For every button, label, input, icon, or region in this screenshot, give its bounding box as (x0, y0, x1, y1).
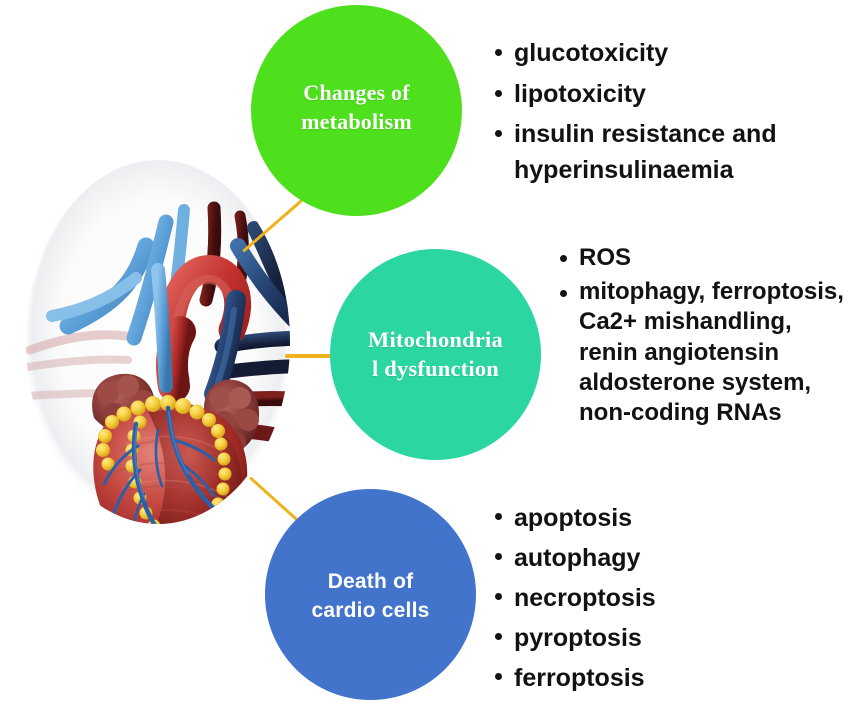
node-death-of-cardio-cells[interactable]: Death of cardio cells (265, 489, 476, 700)
list-item: lipotoxicity (487, 77, 847, 113)
node-label-death: Death of cardio cells (312, 568, 430, 626)
list-item: apoptosis (487, 500, 817, 536)
node-changes-of-metabolism[interactable]: Changes of metabolism (251, 5, 462, 216)
list-item: ROS (552, 243, 852, 273)
list-item: autophagy (487, 540, 817, 576)
bullet-list-mitochondrial: ROS mitophagy, ferroptosis, Ca2+ mishand… (552, 243, 852, 432)
list-item: necroptosis (487, 580, 817, 616)
list-item: pyroptosis (487, 620, 817, 656)
node-label-metabolism: Changes of metabolism (301, 79, 412, 135)
node-label-mitochondrial: Mitochondria l dysfunction (368, 326, 503, 384)
list-item: glucotoxicity (487, 36, 847, 72)
bullet-list-metabolism: glucotoxicity lipotoxicity insulin resis… (487, 36, 847, 193)
diagram-canvas: Changes of metabolism glucotoxicity lipo… (0, 0, 855, 708)
node-mitochondrial-dysfunction[interactable]: Mitochondria l dysfunction (330, 249, 541, 460)
list-item: ferroptosis (487, 660, 817, 696)
list-item: insulin resistance and hyperinsulinaemia (487, 117, 847, 188)
bullet-list-death: apoptosis autophagy necroptosis pyroptos… (487, 500, 817, 700)
list-item: mitophagy, ferroptosis, Ca2+ mishandling… (552, 277, 852, 428)
